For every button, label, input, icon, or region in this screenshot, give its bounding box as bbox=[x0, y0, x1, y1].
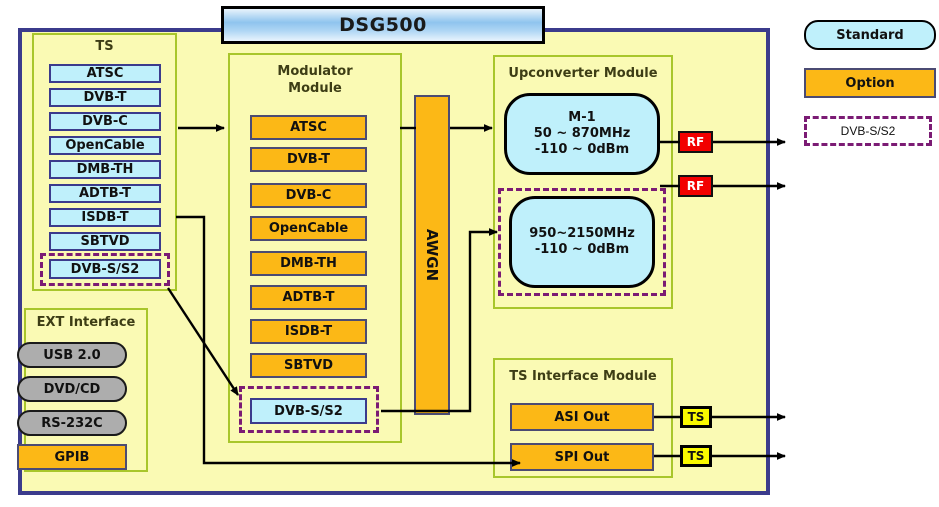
ext-port-dvd-cd[interactable]: DVD/CD bbox=[17, 376, 127, 402]
ts-item-opencable[interactable]: OpenCable bbox=[49, 136, 161, 155]
ts-item-dvb-t[interactable]: DVB-T bbox=[49, 88, 161, 107]
legend-standard-swatch: Standard bbox=[804, 20, 936, 50]
legend-option-swatch: Option bbox=[804, 68, 936, 98]
ts-item-dmb-th[interactable]: DMB-TH bbox=[49, 160, 161, 179]
modulator-item-sbtvd[interactable]: SBTVD bbox=[250, 353, 367, 378]
legend-optional-swatch: DVB-S/S2 bbox=[804, 116, 932, 146]
upconverter-block-m1[interactable]: M-1 50 ~ 870MHz -110 ~ 0dBm bbox=[504, 93, 660, 175]
modulator-module-title-line1: Modulator bbox=[230, 64, 400, 79]
ts-item-isdb-t[interactable]: ISDB-T bbox=[49, 208, 161, 227]
modulator-module-title-line2: Module bbox=[230, 81, 400, 96]
modulator-item-dmb-th[interactable]: DMB-TH bbox=[250, 251, 367, 276]
ts-item-dvb-c[interactable]: DVB-C bbox=[49, 112, 161, 131]
ts-interface-module-title: TS Interface Module bbox=[495, 369, 671, 384]
modulator-item-adtb-t[interactable]: ADTB-T bbox=[250, 285, 367, 310]
upconverter-m1-line2: 50 ~ 870MHz bbox=[534, 126, 631, 142]
ts-item-atsc[interactable]: ATSC bbox=[49, 64, 161, 83]
modulator-item-dvb-s-s2[interactable]: DVB-S/S2 bbox=[250, 398, 367, 424]
modulator-item-atsc[interactable]: ATSC bbox=[250, 115, 367, 140]
legend: Standard Option DVB-S/S2 bbox=[800, 20, 935, 160]
awgn-block[interactable]: AWGN bbox=[414, 95, 450, 415]
upconverter-m1-line1: M-1 bbox=[568, 110, 595, 126]
ts-interface-item-asi-out[interactable]: ASI Out bbox=[510, 403, 654, 431]
upconverter-sat-line1: 950~2150MHz bbox=[529, 226, 635, 242]
ext-interface-title: EXT Interface bbox=[26, 315, 146, 330]
ts-item-adtb-t[interactable]: ADTB-T bbox=[49, 184, 161, 203]
output-port-rf-2[interactable]: RF bbox=[678, 175, 713, 197]
modulator-item-opencable[interactable]: OpenCable bbox=[250, 216, 367, 241]
awgn-label: AWGN bbox=[423, 229, 441, 281]
device-title-box: DSG500 bbox=[221, 6, 545, 44]
block-diagram: DSG500 TS ATSC DVB-T DVB-C OpenCable DMB… bbox=[0, 0, 939, 507]
ts-module-title: TS bbox=[34, 39, 175, 54]
modulator-item-dvb-t[interactable]: DVB-T bbox=[250, 147, 367, 172]
ts-item-dvb-s-s2[interactable]: DVB-S/S2 bbox=[49, 259, 161, 279]
output-port-rf-1[interactable]: RF bbox=[678, 131, 713, 153]
ts-interface-item-spi-out[interactable]: SPI Out bbox=[510, 443, 654, 471]
ts-item-sbtvd[interactable]: SBTVD bbox=[49, 232, 161, 251]
output-port-ts-1[interactable]: TS bbox=[680, 406, 712, 428]
output-port-ts-2[interactable]: TS bbox=[680, 445, 712, 467]
upconverter-sat-line2: -110 ~ 0dBm bbox=[535, 242, 629, 258]
modulator-item-dvb-c[interactable]: DVB-C bbox=[250, 183, 367, 208]
ext-port-gpib[interactable]: GPIB bbox=[17, 444, 127, 470]
modulator-module-group: Modulator Module bbox=[228, 53, 402, 443]
ext-port-rs-232c[interactable]: RS-232C bbox=[17, 410, 127, 436]
page-title: DSG500 bbox=[339, 14, 427, 36]
modulator-item-isdb-t[interactable]: ISDB-T bbox=[250, 319, 367, 344]
upconverter-module-title: Upconverter Module bbox=[495, 66, 671, 81]
upconverter-m1-line3: -110 ~ 0dBm bbox=[535, 142, 629, 158]
upconverter-block-satellite[interactable]: 950~2150MHz -110 ~ 0dBm bbox=[509, 196, 655, 288]
ext-port-usb-2-0[interactable]: USB 2.0 bbox=[17, 342, 127, 368]
